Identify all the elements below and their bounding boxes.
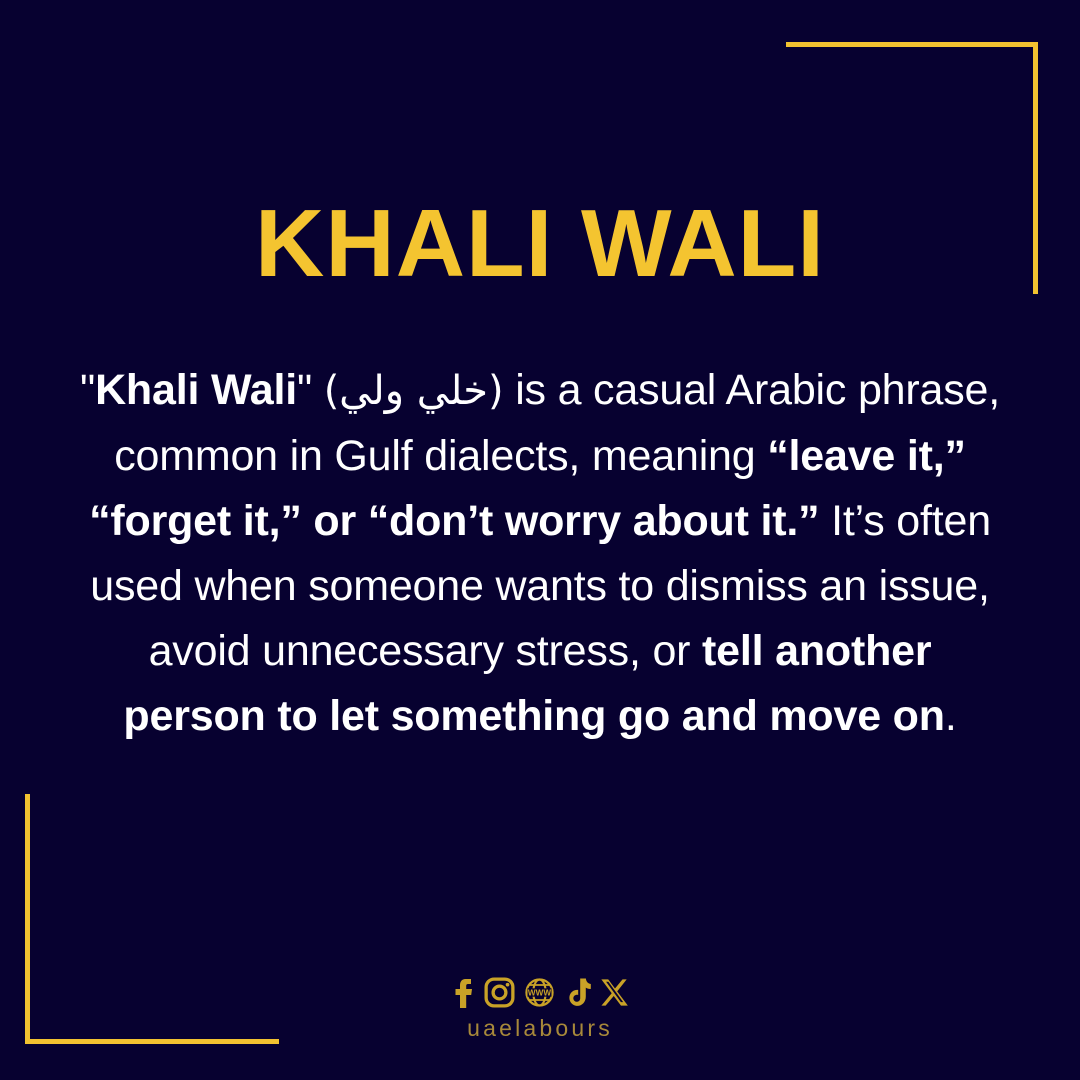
body-text: " (80, 366, 95, 414)
website-www-globe-icon[interactable]: WWW (524, 977, 555, 1008)
paragraph-line: used when someone wants to dismiss an is… (52, 554, 1028, 619)
facebook-icon[interactable] (452, 977, 475, 1008)
paragraph-line: avoid unnecessary stress, or tell anothe… (52, 619, 1028, 684)
bracket-horizontal-line (786, 42, 1038, 47)
body-text: used when someone wants to dismiss an is… (90, 562, 989, 610)
social-icons-row: WWW (0, 973, 1080, 1011)
body-text: is a casual Arabic phrase, (503, 366, 1000, 414)
x-twitter-icon[interactable] (600, 978, 629, 1007)
emphasis-text: tell another (702, 627, 931, 675)
paragraph-line: “forget it,” or “don’t worry about it.” … (52, 489, 1028, 554)
paragraph-line: person to let something go and move on. (52, 684, 1028, 749)
body-text: avoid unnecessary stress, or (149, 627, 702, 675)
emphasis-text: “leave it,” (767, 432, 966, 480)
emphasis-text: “forget it,” or “don’t worry about it.” (89, 497, 819, 545)
emphasis-text: Khali Wali (95, 366, 297, 414)
arabic-phrase: (خلي ولي) (324, 368, 504, 414)
body-text: " (297, 366, 324, 414)
emphasis-text: person to let something go and move on (123, 692, 944, 740)
social-handle[interactable]: uaelabours (0, 1015, 1080, 1042)
paragraph-line: common in Gulf dialects, meaning “leave … (52, 424, 1028, 489)
page-title: KHALI WALI (0, 196, 1080, 292)
body-text: common in Gulf dialects, meaning (114, 432, 767, 480)
instagram-icon[interactable] (484, 977, 515, 1008)
tiktok-icon[interactable] (564, 977, 591, 1008)
social-post-canvas: KHALI WALI "Khali Wali" (خلي ولي) is a c… (0, 0, 1080, 1080)
definition-paragraph: "Khali Wali" (خلي ولي) is a casual Arabi… (52, 358, 1028, 749)
body-text: It’s often (819, 497, 991, 545)
paragraph-line: "Khali Wali" (خلي ولي) is a casual Arabi… (52, 358, 1028, 424)
svg-text:WWW: WWW (527, 988, 551, 997)
body-text: . (945, 692, 957, 740)
footer: WWW uaelabours (0, 973, 1080, 1042)
